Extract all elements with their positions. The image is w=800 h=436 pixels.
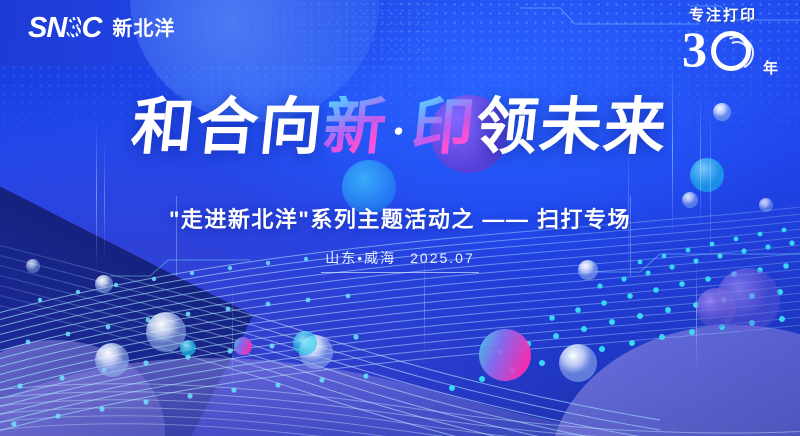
title-part-1: 和合向 xyxy=(129,96,328,158)
sphere-cyan xyxy=(293,331,317,355)
event-banner: SN3C 新北洋 专注打印 3 年 和合向新·印领未来 "走进新北洋"系列主题活… xyxy=(0,0,800,436)
title-part-3: 印 xyxy=(409,96,480,158)
brand-logo[interactable]: SN3C 新北洋 xyxy=(28,14,175,43)
anniversary-number-group: 3 年 xyxy=(670,26,776,80)
sphere-small-left xyxy=(95,275,113,293)
logo-text-c: C xyxy=(81,12,101,44)
snbc-wordmark: SN3C xyxy=(28,14,101,43)
title-part-4: 领未来 xyxy=(473,96,672,158)
company-name-cn: 新北洋 xyxy=(112,19,175,39)
sphere-white-mid xyxy=(559,344,597,382)
main-title: 和合向新·印领未来 xyxy=(0,96,800,158)
sphere-left-lower xyxy=(95,343,129,377)
anniversary-unit: 年 xyxy=(763,57,778,78)
event-subtitle: "走进新北洋"系列主题活动之 —— 扫打专场 xyxy=(0,202,800,234)
event-date: 2025.07 xyxy=(410,250,475,266)
sphere-magenta-large xyxy=(479,329,531,381)
logo-text-3: 3 xyxy=(66,14,81,43)
event-location: 山东•威海 xyxy=(325,250,396,266)
title-part-2: 新 xyxy=(321,96,392,158)
sphere-medium-left xyxy=(146,312,186,352)
anniversary-digit-3: 3 xyxy=(682,24,707,74)
logo-text-sn: SN xyxy=(28,12,66,44)
event-meta-inner: 山东•威海2025.07 xyxy=(321,248,479,273)
sphere-magenta-small xyxy=(234,337,252,355)
event-meta: 山东•威海2025.07 xyxy=(0,248,800,273)
anniversary-badge: 专注打印 3 年 xyxy=(670,8,776,86)
